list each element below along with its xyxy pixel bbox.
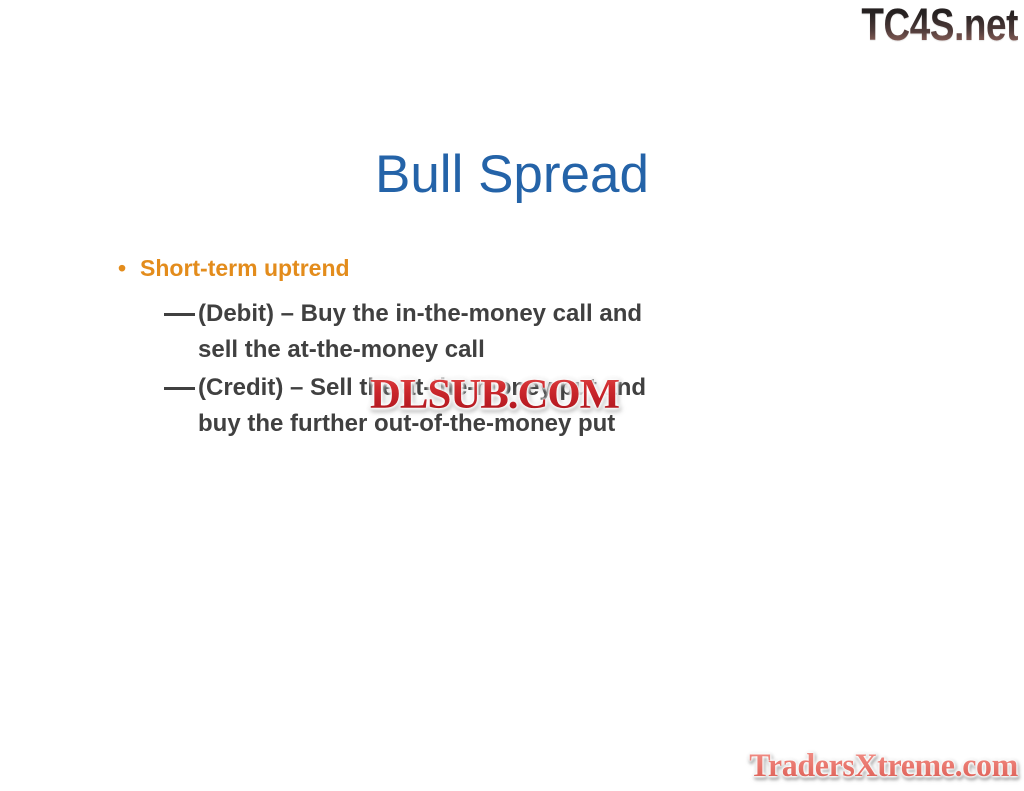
- bullet-debit-line1: (Debit) – Buy the in-the-money call and: [198, 296, 642, 332]
- bullet-level1-label: Short-term uptrend: [140, 252, 350, 284]
- bullet-debit-text: (Debit) – Buy the in-the-money call and …: [198, 296, 642, 368]
- tc4s-logo: TC4S.net: [861, 1, 1018, 49]
- em-dash-icon: [164, 370, 198, 406]
- bullet-item-debit: (Debit) – Buy the in-the-money call and …: [164, 296, 908, 368]
- bullet-item-level1: • Short-term uptrend: [118, 252, 908, 284]
- bullet-debit-line2: sell the at-the-money call: [198, 332, 642, 368]
- tradersxtreme-watermark: TradersXtreme.com: [749, 747, 1018, 785]
- bullet-dot-icon: •: [118, 252, 140, 284]
- slide-canvas: TC4S.net Bull Spread • Short-term uptren…: [0, 0, 1024, 791]
- page-title: Bull Spread: [0, 144, 1024, 206]
- dlsub-watermark: DLSUB.COM: [370, 374, 619, 416]
- em-dash-icon: [164, 296, 198, 332]
